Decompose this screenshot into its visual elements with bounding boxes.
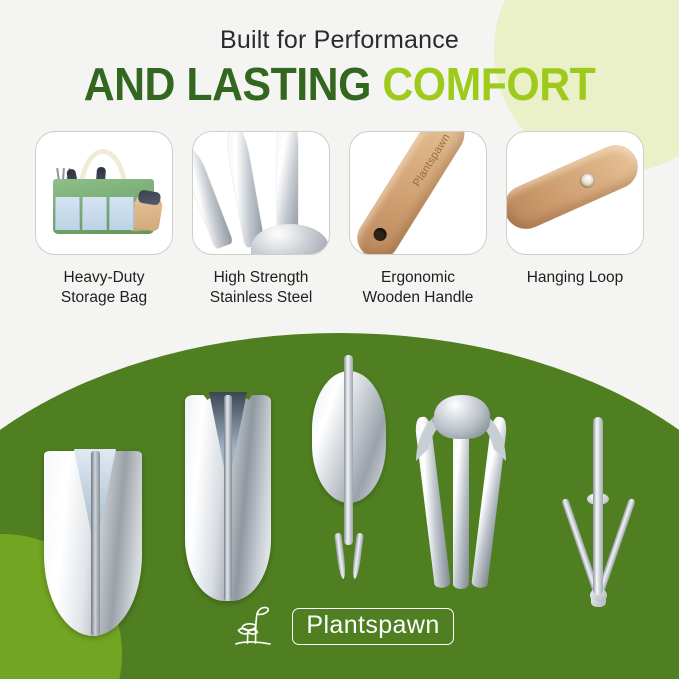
feature-caption: Ergonomic Wooden Handle xyxy=(363,268,474,309)
sprout-seedling-icon xyxy=(225,603,279,649)
feature-caption-line1: High Strength xyxy=(210,268,313,288)
feature-image-frame xyxy=(192,131,330,255)
wooden-handle-icon: Plantspawn xyxy=(350,132,486,254)
tool-weeder-fork xyxy=(312,355,386,587)
feature-image-frame xyxy=(506,131,644,255)
feature-image-frame xyxy=(35,131,173,255)
page-title: AND LASTING COMFORT xyxy=(24,61,655,108)
headline-block: Built for Performance AND LASTING COMFOR… xyxy=(0,26,679,108)
tool-transplanter-trowel xyxy=(185,395,271,601)
feature-card-stainless-steel[interactable]: High Strength Stainless Steel xyxy=(192,131,330,309)
feature-card-list: Heavy-Duty Storage Bag High Strength Sta… xyxy=(0,131,679,309)
feature-caption-line2: Storage Bag xyxy=(61,288,147,308)
garden-tote-bag-icon xyxy=(36,132,172,254)
feature-caption-line1: Hanging Loop xyxy=(527,268,624,288)
logo-wordmark: Plantspawn xyxy=(306,611,439,639)
hanging-loop-icon xyxy=(507,132,643,254)
infographic-canvas: Built for Performance AND LASTING COMFOR… xyxy=(0,0,679,679)
feature-caption: Hanging Loop xyxy=(527,268,624,288)
feature-card-wooden-handle[interactable]: Plantspawn Ergonomic Wooden Handle xyxy=(349,131,487,309)
stainless-fork-icon xyxy=(193,132,329,254)
feature-caption-line2: Wooden Handle xyxy=(363,288,474,308)
handle-hole-icon xyxy=(371,226,389,244)
feature-caption-line2: Stainless Steel xyxy=(210,288,313,308)
tool-three-tine-hand-fork xyxy=(408,395,513,591)
feature-caption: Heavy-Duty Storage Bag xyxy=(61,268,147,309)
hanging-hole-icon xyxy=(577,170,597,190)
headline-part-dark: AND LASTING xyxy=(84,58,371,110)
feature-caption-line1: Heavy-Duty xyxy=(61,268,147,288)
tool-three-prong-cultivator xyxy=(555,417,651,603)
feature-caption: High Strength Stainless Steel xyxy=(210,268,313,309)
headline-part-lime: COMFORT xyxy=(382,58,595,110)
feature-card-hanging-loop[interactable]: Hanging Loop xyxy=(506,131,644,309)
handle-engraving-text: Plantspawn xyxy=(411,147,443,189)
logo-wordmark-box: Plantspawn xyxy=(292,608,453,645)
feature-caption-line1: Ergonomic xyxy=(363,268,474,288)
brand-logo: Plantspawn xyxy=(0,603,679,649)
subheadline: Built for Performance xyxy=(0,26,679,55)
feature-image-frame: Plantspawn xyxy=(349,131,487,255)
feature-card-storage-bag[interactable]: Heavy-Duty Storage Bag xyxy=(35,131,173,309)
